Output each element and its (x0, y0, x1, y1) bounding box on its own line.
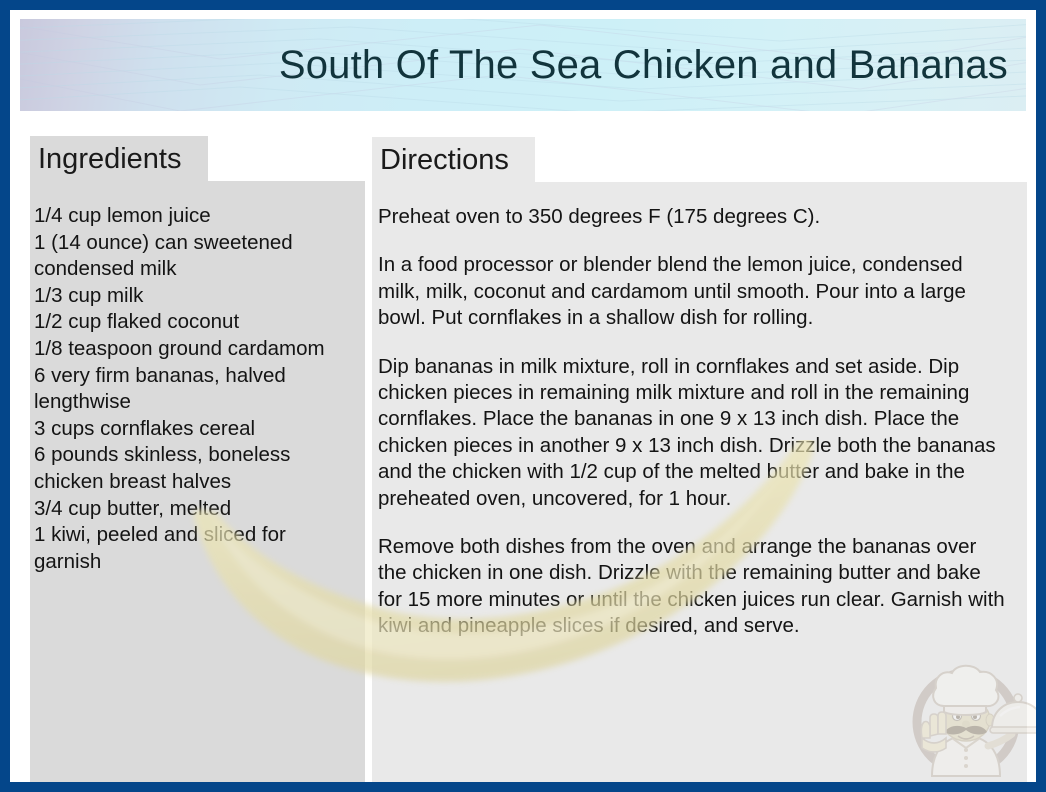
ingredient-line: 1/8 teaspoon ground cardamom (34, 336, 351, 363)
ingredient-line: 6 pounds skinless, boneless (34, 442, 351, 469)
tab-directions[interactable]: Directions (372, 137, 535, 185)
page-title: South Of The Sea Chicken and Bananas (20, 19, 1008, 111)
direction-paragraph: Preheat oven to 350 degrees F (175 degre… (378, 204, 1007, 230)
ingredient-line: garnish (34, 549, 351, 576)
tab-ingredients[interactable]: Ingredients (30, 136, 208, 184)
ingredient-line: 1/2 cup flaked coconut (34, 309, 351, 336)
ingredient-line: 1/4 cup lemon juice (34, 203, 351, 230)
ingredient-line: 3 cups cornflakes cereal (34, 416, 351, 443)
header-banner: South Of The Sea Chicken and Bananas (20, 19, 1026, 111)
ingredients-list: 1/4 cup lemon juice 1 (14 ounce) can swe… (34, 203, 351, 575)
ingredient-line: chicken breast halves (34, 469, 351, 496)
ingredients-panel: 1/4 cup lemon juice 1 (14 ounce) can swe… (30, 181, 365, 782)
direction-paragraph: Dip bananas in milk mixture, roll in cor… (378, 354, 1007, 512)
direction-paragraph: Remove both dishes from the oven and arr… (378, 534, 1007, 640)
recipe-card: South Of The Sea Chicken and Bananas Ing… (0, 0, 1046, 792)
ingredient-line: condensed milk (34, 256, 351, 283)
page-inner: South Of The Sea Chicken and Bananas Ing… (10, 10, 1036, 782)
ingredient-line: 6 very firm bananas, halved (34, 363, 351, 390)
ingredient-line: 1 kiwi, peeled and sliced for (34, 522, 351, 549)
directions-panel: Preheat oven to 350 degrees F (175 degre… (372, 182, 1027, 782)
ingredient-line: 1/3 cup milk (34, 283, 351, 310)
directions-text: Preheat oven to 350 degrees F (175 degre… (378, 204, 1007, 640)
ingredient-line: lengthwise (34, 389, 351, 416)
ingredient-line: 3/4 cup butter, melted (34, 496, 351, 523)
ingredient-line: 1 (14 ounce) can sweetened (34, 230, 351, 257)
direction-paragraph: In a food processor or blender blend the… (378, 252, 1007, 331)
